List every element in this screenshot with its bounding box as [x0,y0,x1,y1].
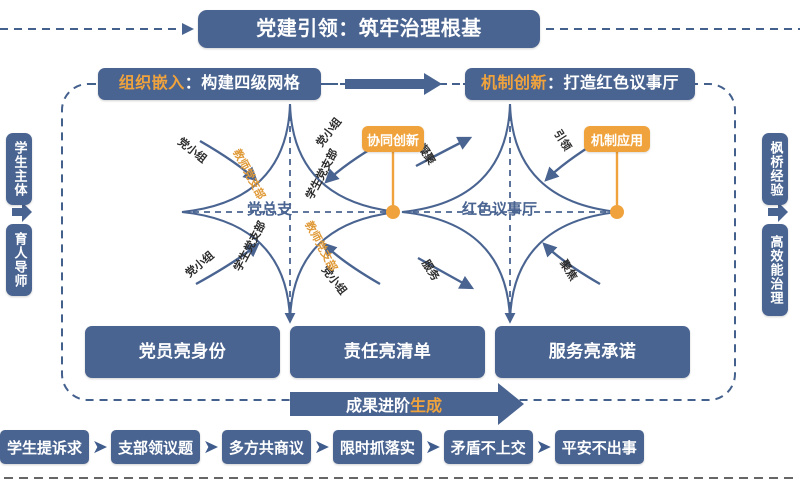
chain-arrow-icon-1: ➤ [89,438,111,457]
process-chain: 学生提诉求 ➤ 支部领议题 ➤ 多方共商议 ➤ 限时抓落实 ➤ 矛盾不上交 ➤ … [0,427,800,467]
chain-step-5[interactable]: 矛盾不上交 [444,430,533,464]
side-label-student-subject: 学生主体 [6,133,32,205]
header-right-rest: ：打造红色议事厅 [547,75,679,93]
chain-step-2[interactable]: 支部领议题 [111,430,200,464]
result-feeders [290,320,510,322]
side-label-educator-mentor: 育人导师 [6,224,32,296]
left-spoke-teacher-branch-br: 教师党支部 [302,218,342,274]
right-diamond-center-label: 红色议事厅 [462,198,537,219]
left-diamond-center-label: 党总支 [247,198,292,219]
right-spoke-service: 服务 [418,256,443,283]
header-right-prefix: 机制创新 [481,75,547,93]
result-box-service-commitment[interactable]: 服务亮承诺 [495,326,690,378]
chain-step-4[interactable]: 限时抓落实 [333,430,422,464]
side-feeders [12,202,788,222]
right-spoke-leadership: 引领 [550,126,575,153]
diagram-canvas: 党建引领：筑牢治理根基 组织嵌入：构建四级网格 机制创新：打造红色议事厅 学生主… [0,0,800,493]
header-organizational-embedding[interactable]: 组织嵌入：构建四级网格 [98,68,321,100]
chain-arrow-icon-4: ➤ [422,438,444,457]
chain-arrow-icon-5: ➤ [533,438,555,457]
side-label-efficient-governance: 高效能治理 [762,224,788,316]
chain-step-6[interactable]: 平安不出事 [555,430,644,464]
chain-step-3[interactable]: 多方共商议 [222,430,311,464]
chain-step-1[interactable]: 学生提诉求 [0,430,89,464]
side-label-fengqiao-experience: 枫桥经验 [762,133,788,205]
left-spoke-teacher-branch-tl: 教师党支部 [230,146,270,202]
header-mechanism-innovation[interactable]: 机制创新：打造红色议事厅 [465,68,695,100]
badge-mechanism-application[interactable]: 机制应用 [584,126,650,152]
left-spoke-party-group-tr: 党小组 [312,114,345,150]
progress-arrow-white: 成果进阶 [346,392,410,416]
result-box-responsibility-list[interactable]: 责任亮清单 [290,326,485,378]
result-box-party-member-identity[interactable]: 党员亮身份 [85,326,280,378]
header-flow-arrow [345,73,442,95]
progress-arrow-orange: 生成 [410,392,442,416]
left-spoke-party-group-tl: 党小组 [175,134,211,167]
chain-arrow-icon-2: ➤ [200,438,222,457]
left-spoke-party-group-bl: 党小组 [182,247,218,280]
header-left-prefix: 组织嵌入 [119,75,185,93]
header-left-rest: ：构建四级网格 [185,75,301,93]
left-spoke-student-branch-bl: 学生党支部 [230,218,270,274]
page-title: 党建引领：筑牢治理根基 [198,10,540,48]
progress-arrow-label: 成果进阶生成 [290,393,498,415]
badge-collaborative-innovation[interactable]: 协同创新 [362,126,424,152]
chain-arrow-icon-3: ➤ [311,438,333,457]
right-spoke-focus: 聚焦 [556,256,581,283]
left-spoke-student-branch-tr: 学生党支部 [302,146,342,202]
